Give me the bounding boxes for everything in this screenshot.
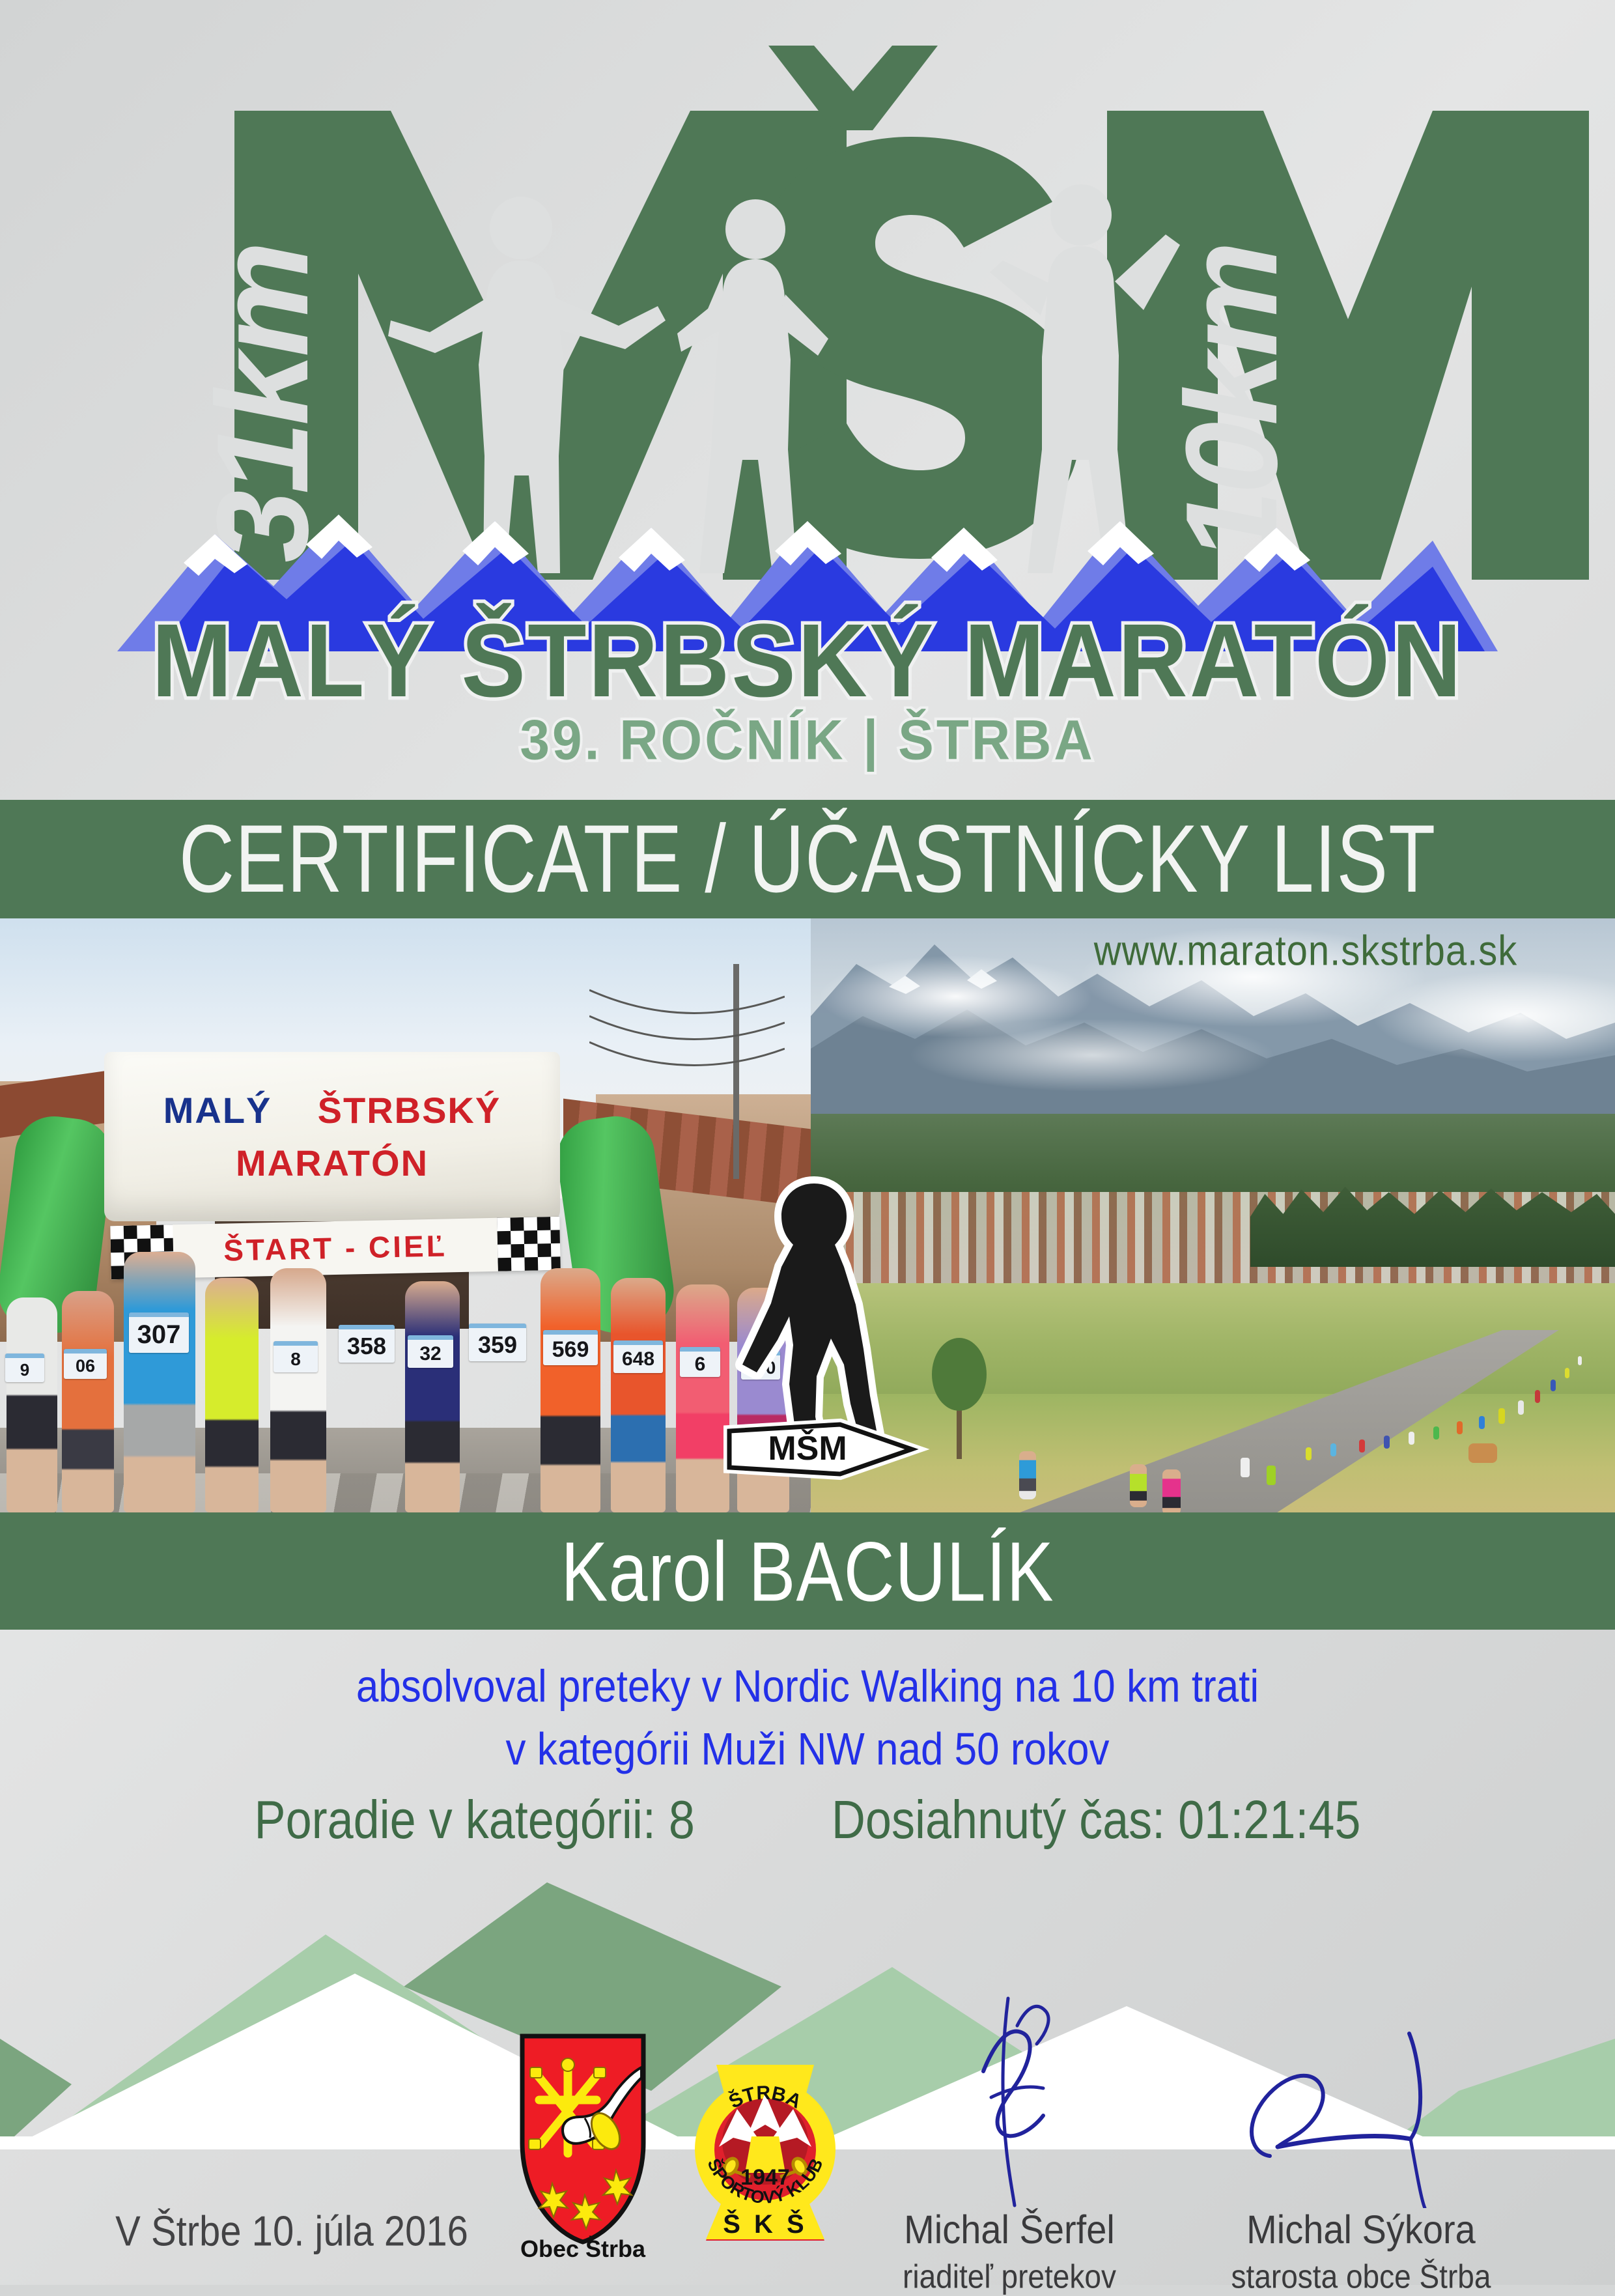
description-block: absolvoval preteky v Nordic Walking na 1…: [0, 1656, 1615, 1781]
runner-body: [335, 1258, 398, 1512]
runner-crowd: 9 06 307 8 358 32 359 569 648: [0, 1213, 811, 1512]
bib-text: 359: [478, 1331, 517, 1359]
runner-marker: [1551, 1380, 1556, 1391]
event-logo: 31km: [0, 0, 1615, 801]
runner-body: [124, 1252, 195, 1512]
runner-marker: [1578, 1356, 1582, 1365]
certificate-title: CERTIFICATE / ÚČASTNÍCKY LIST: [179, 804, 1436, 914]
svg-text:10km: 10km: [1159, 245, 1304, 563]
results-row: Poradie v kategórii: 8 Dosiahnutý čas: 0…: [0, 1789, 1615, 1850]
runner-foreground: [1130, 1464, 1147, 1507]
cow: [1468, 1443, 1497, 1463]
bib-text: 9: [20, 1360, 29, 1380]
runner-marker: [1241, 1458, 1250, 1477]
bib-number: 6: [680, 1347, 720, 1377]
runner-marker: [1518, 1400, 1524, 1415]
bib-number: 307: [129, 1312, 189, 1353]
runner-marker: [1433, 1426, 1439, 1439]
coat-of-arms-label: Obec Štrba: [508, 2235, 658, 2263]
sports-club-emblem: ŠTRBA ŠPORTOVÝ KLUB 1947 Š K Š: [690, 2026, 840, 2254]
msm-runner-cutout: MŠM: [716, 1169, 931, 1482]
msm-plate: MŠM: [729, 1424, 912, 1474]
runner-body: [205, 1278, 259, 1512]
photo-course-landscape: www.maraton.skstrba.sk: [811, 918, 1615, 1512]
arch-word-maly: MALÝ: [163, 1090, 272, 1131]
runner-marker: [1409, 1432, 1414, 1445]
arch-word-maraton: MARATÓN: [236, 1142, 428, 1183]
coat-of-arms-svg: [508, 2032, 658, 2247]
bib-number: 569: [543, 1330, 598, 1365]
bib-number: 359: [469, 1324, 526, 1361]
bib-number: 9: [5, 1354, 44, 1382]
certificate-page: 31km: [0, 0, 1615, 2285]
issue-date: V Štrbe 10. júla 2016: [77, 2207, 507, 2256]
signature-mark: [853, 1993, 1192, 2208]
spectator: [1019, 1451, 1036, 1499]
signatory-role: starosta obce Štrba: [1192, 2257, 1530, 2295]
logo-edition: 39. ROČNÍK | ŠTRBA: [0, 710, 1615, 771]
signatory-role: riaditeľ pretekov: [840, 2257, 1179, 2295]
bib-text: 8: [290, 1349, 301, 1370]
runner-marker: [1457, 1421, 1463, 1434]
bib-number: 06: [64, 1349, 107, 1379]
bib-number: 358: [339, 1325, 395, 1363]
bib-text: 06: [76, 1356, 95, 1376]
arch-subhead: MARATÓN: [236, 1142, 428, 1184]
bib-text: 358: [347, 1333, 386, 1360]
certificate-title-banner: CERTIFICATE / ÚČASTNÍCKY LIST: [0, 800, 1615, 918]
runner-marker: [1498, 1408, 1505, 1424]
coat-of-arms-strba: [508, 2032, 658, 2247]
runner-body: [270, 1268, 326, 1512]
runner-marker: [1359, 1439, 1365, 1453]
website-url-container: www.maraton.skstrba.sk: [1019, 929, 1592, 972]
arch-headline: MALÝ ŠTRBSKÝ: [163, 1089, 501, 1131]
arch-banner: MALÝ ŠTRBSKÝ MARATÓN: [104, 1052, 560, 1221]
runner-body: [611, 1278, 666, 1512]
club-year: 1947: [740, 2165, 790, 2190]
bib-number: 32: [408, 1335, 453, 1368]
runner-marker: [1384, 1436, 1390, 1449]
runner-body: [7, 1297, 57, 1512]
runner-marker: [1535, 1390, 1540, 1403]
description-line-2: v kategórii Muži NW nad 50 rokov: [0, 1718, 1615, 1781]
runner-body: [405, 1281, 460, 1512]
runner-marker: [1267, 1466, 1276, 1485]
bib-text: 569: [552, 1337, 589, 1363]
roadside-tree: [928, 1335, 993, 1459]
logo-event-name: MALÝ ŠTRBSKÝ MARATÓN: [0, 606, 1615, 716]
photo-race-start: MALÝ ŠTRBSKÝ MARATÓN ŠTART - CIEĽ: [0, 918, 811, 1512]
participant-name: Karol BACULÍK: [561, 1522, 1054, 1620]
svg-text:31km: 31km: [190, 245, 335, 563]
participant-name-banner: Karol BACULÍK: [0, 1512, 1615, 1630]
certificate-body: absolvoval preteky v Nordic Walking na 1…: [0, 1630, 1615, 1890]
club-initials: Š K Š: [723, 2209, 807, 2239]
runner-marker: [1479, 1416, 1485, 1429]
description-line-1: absolvoval preteky v Nordic Walking na 1…: [0, 1656, 1615, 1718]
signatory-name: Michal Sýkora: [1192, 2206, 1530, 2253]
runner-body: [541, 1268, 600, 1512]
sports-club-svg: ŠTRBA ŠPORTOVÝ KLUB 1947 Š K Š: [690, 2026, 840, 2254]
msm-plate-text: MŠM: [768, 1429, 847, 1467]
runner-body: [466, 1255, 531, 1512]
logo-edition-text: 39. ROČNÍK | ŠTRBA: [520, 709, 1095, 773]
runner-marker: [1306, 1447, 1312, 1460]
logo-event-name-text: MALÝ ŠTRBSKÝ MARATÓN: [152, 601, 1463, 721]
runner-body: [62, 1291, 114, 1512]
runner-foreground: [1162, 1469, 1181, 1512]
photo-strip: MALÝ ŠTRBSKÝ MARATÓN ŠTART - CIEĽ: [0, 918, 1615, 1512]
bib-text: 307: [137, 1320, 181, 1350]
finish-time: Dosiahnutý čas: 01:21:45: [832, 1789, 1361, 1850]
bib-text: 648: [622, 1348, 654, 1370]
website-url[interactable]: www.maraton.skstrba.sk: [1094, 926, 1518, 975]
arch-word-strbsky: ŠTRBSKÝ: [318, 1090, 501, 1131]
bib-text: 32: [419, 1343, 441, 1365]
runner-marker: [1565, 1368, 1569, 1378]
logo-distance-left: 31km: [190, 245, 335, 563]
runner-marker: [1330, 1443, 1336, 1456]
bib-text: 6: [695, 1354, 706, 1376]
bib-number: 648: [613, 1340, 663, 1373]
signatory-name: Michal Šerfel: [840, 2206, 1179, 2253]
logo-distance-right: 10km: [1159, 245, 1304, 563]
msm-cutout-svg: MŠM: [716, 1169, 931, 1482]
signature-mark: [1192, 1993, 1530, 2208]
category-rank: Poradie v kategórii: 8: [255, 1789, 695, 1850]
bib-number: 8: [274, 1341, 318, 1372]
